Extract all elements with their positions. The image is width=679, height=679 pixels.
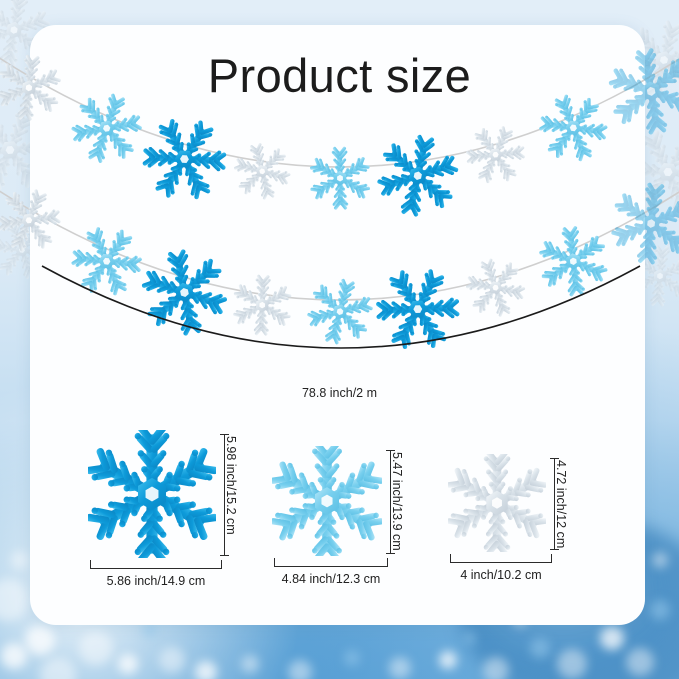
dimension-cap (386, 553, 395, 554)
small-snowflake-graphic (448, 454, 546, 552)
height-dimension-label: 5.98 inch/15.2 cm (224, 436, 238, 535)
snowflake (448, 454, 546, 552)
snowflake (272, 446, 382, 556)
height-dimension-label: 5.47 inch/13.9 cm (390, 452, 404, 551)
medium-snowflake: 5.47 inch/13.9 cm4.84 inch/12.3 cm (272, 446, 420, 602)
width-dimension-line (90, 568, 222, 569)
width-dimension-label: 4 inch/10.2 cm (448, 568, 554, 582)
small-snowflake: 4.72 inch/12 cm4 inch/10.2 cm (448, 454, 584, 598)
width-dimension-line (274, 566, 388, 567)
dimension-cap (274, 558, 275, 567)
page-title: Product size (0, 48, 679, 103)
dimension-cap (220, 555, 229, 556)
dimension-cap (551, 554, 552, 563)
medium-snowflake-graphic (272, 446, 382, 556)
size-samples: 5.98 inch/15.2 cm5.86 inch/14.9 cm5.47 i… (0, 420, 679, 600)
dimension-cap (450, 554, 451, 563)
product-size-infographic: Product size 78.8 inch/2 m 5.98 inch/15.… (0, 0, 679, 679)
snowflake (88, 430, 216, 558)
width-dimension-label: 4.84 inch/12.3 cm (272, 572, 390, 586)
total-length-label: 78.8 inch/2 m (0, 386, 679, 400)
width-dimension-line (450, 562, 552, 563)
dimension-cap (221, 560, 222, 569)
width-dimension-label: 5.86 inch/14.9 cm (88, 574, 224, 588)
large-snowflake: 5.98 inch/15.2 cm5.86 inch/14.9 cm (88, 430, 254, 604)
dimension-cap (550, 549, 559, 550)
height-dimension-label: 4.72 inch/12 cm (554, 460, 568, 548)
dimension-cap (387, 558, 388, 567)
dimension-cap (90, 560, 91, 569)
large-snowflake-graphic (88, 430, 216, 558)
